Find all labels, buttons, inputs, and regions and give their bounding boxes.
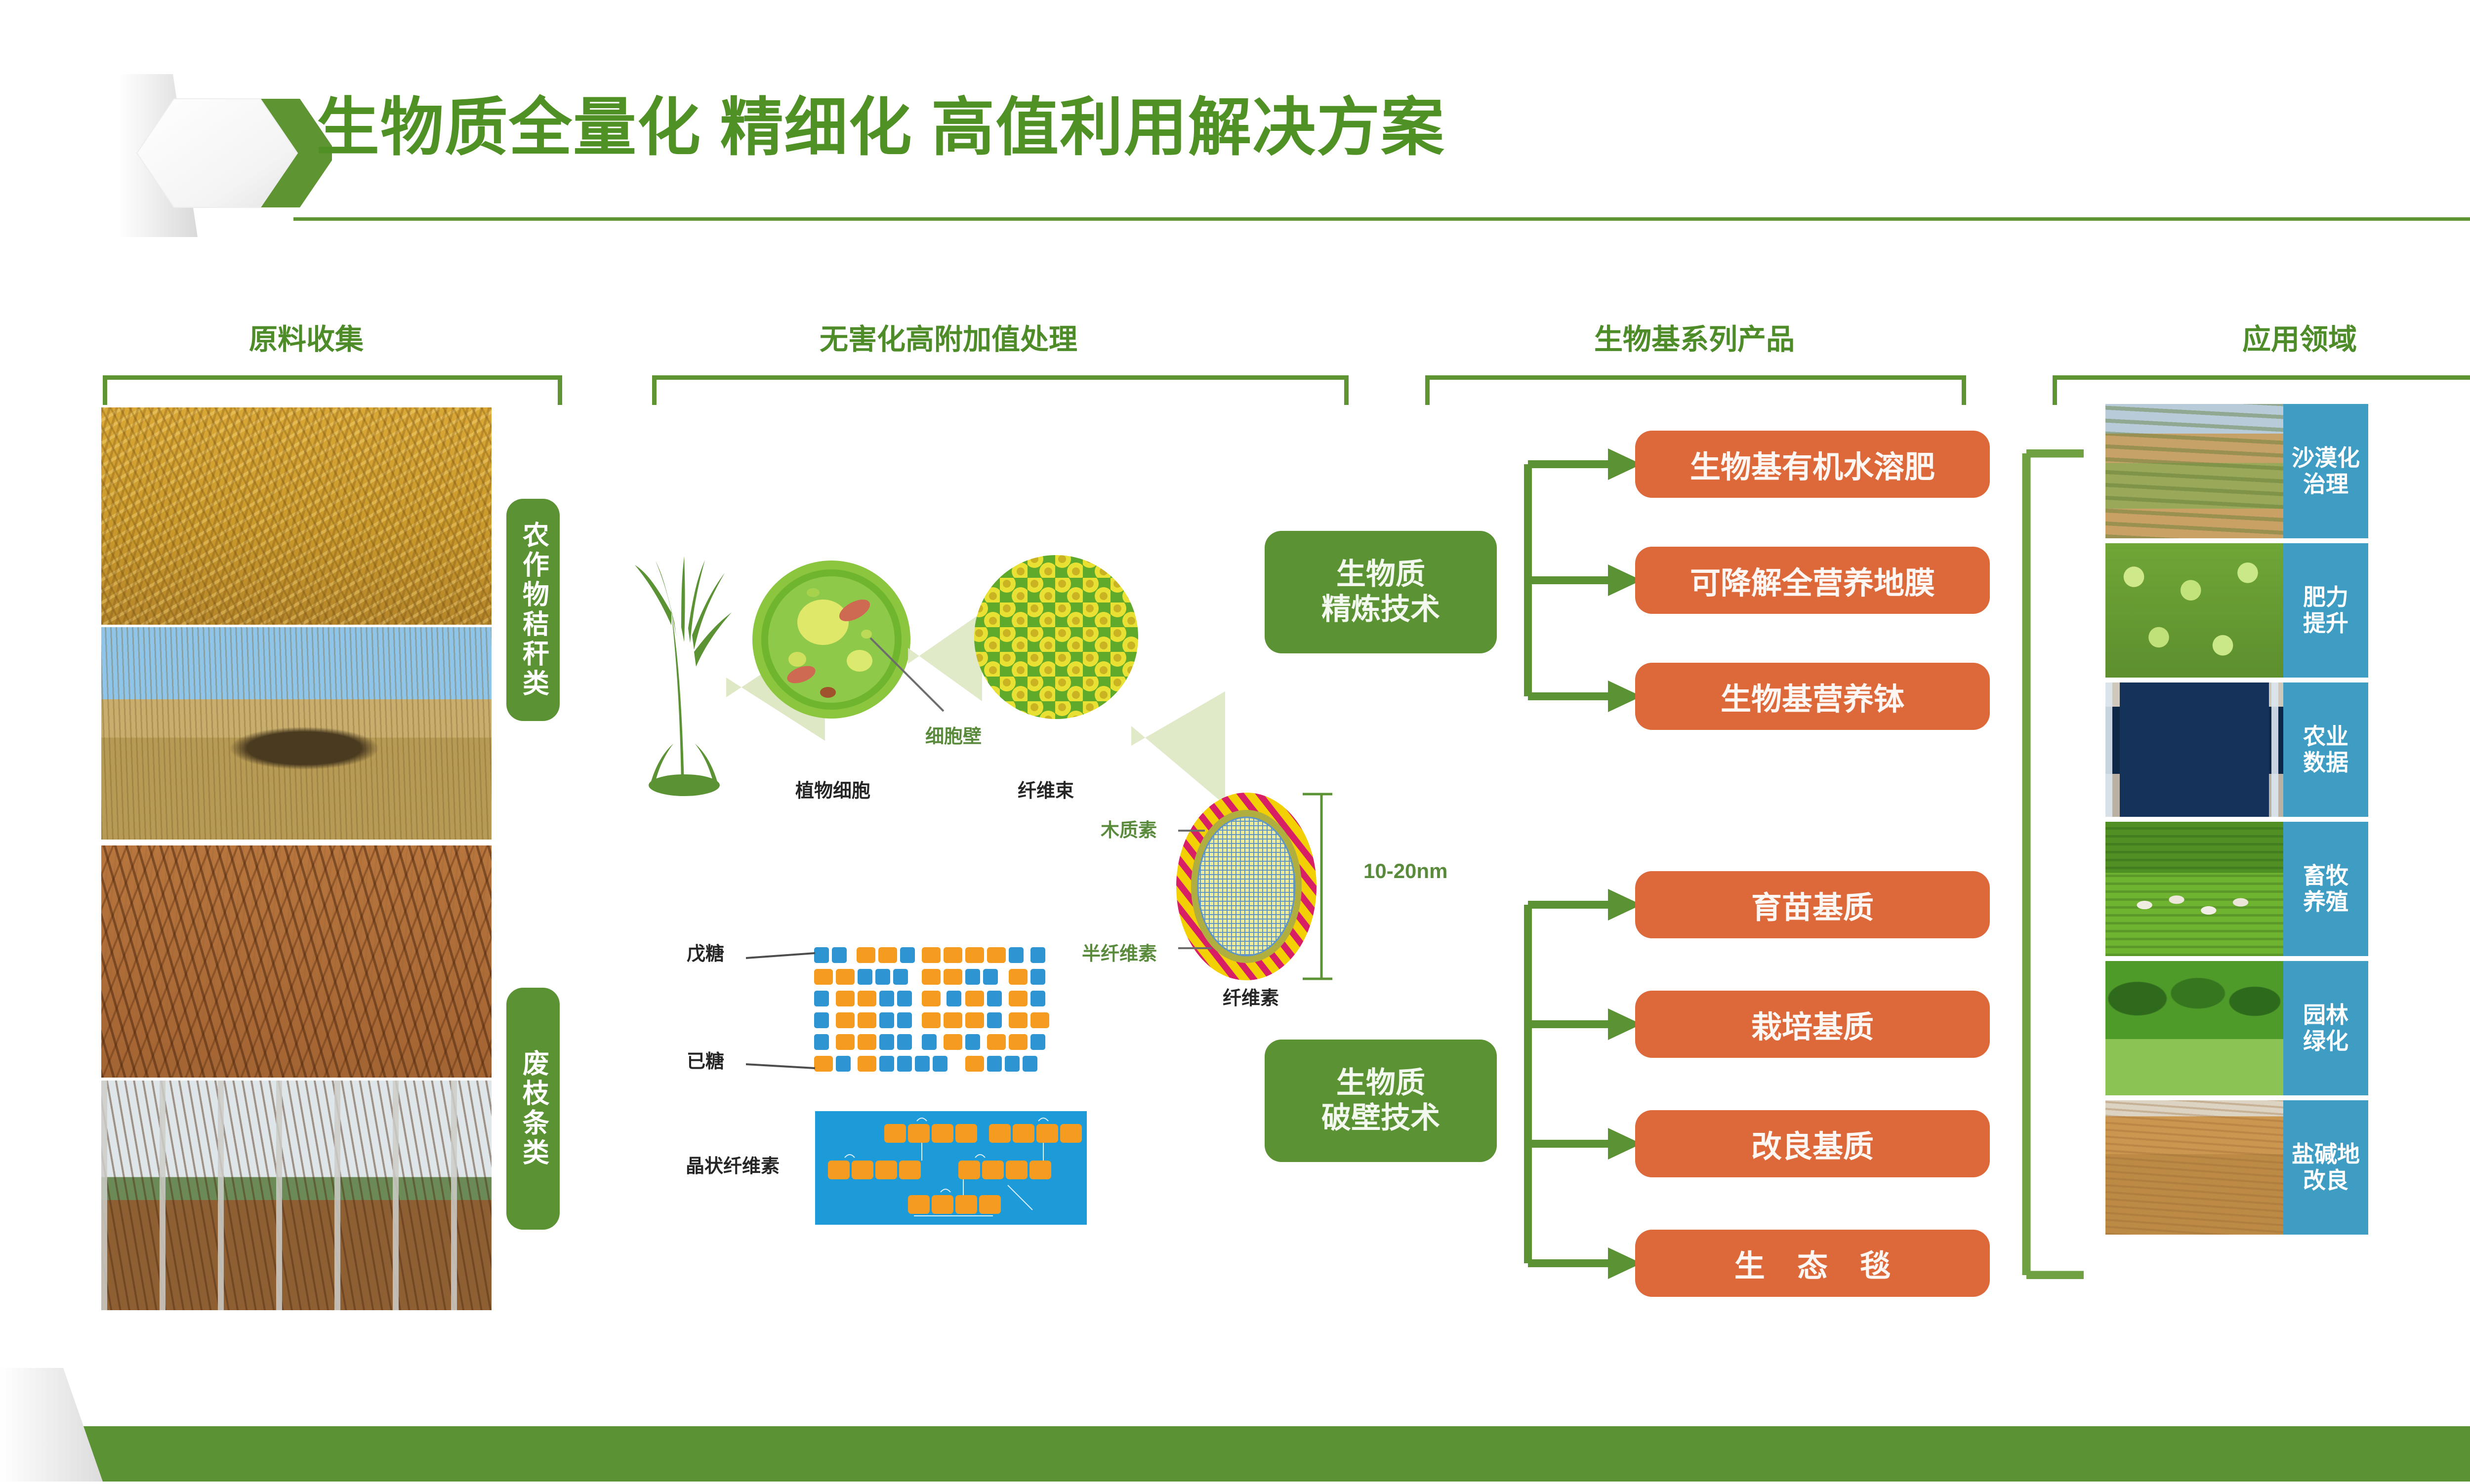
refining-branch-arrows	[1519, 444, 1647, 716]
application-label-line2: 养殖	[2303, 889, 2348, 915]
application-label-line2: 提升	[2303, 610, 2348, 637]
product-ecological-blanket[interactable]: 生 态 毯	[1635, 1230, 1990, 1297]
wall-breaking-branch-arrows	[1519, 884, 1647, 1284]
page-title: 生物质全量化 精细化 高值利用解决方案	[316, 96, 1445, 160]
application-livestock-breeding[interactable]: 畜牧 养殖	[2105, 822, 2370, 956]
product-cultivation-substrate[interactable]: 栽培基质	[1635, 991, 1990, 1058]
product-label: 生 态 毯	[1723, 1241, 1902, 1285]
product-label: 育苗基质	[1751, 882, 1874, 927]
application-label: 沙漠化 治理	[2283, 404, 2368, 538]
bottom-green-bar	[0, 1426, 2470, 1482]
application-label: 肥力 提升	[2283, 543, 2368, 678]
column-header-processing: 无害化高附加值处理	[608, 316, 1289, 358]
application-label-line1: 畜牧	[2303, 863, 2348, 889]
biomass-refining-tech-line2: 精炼技术	[1321, 592, 1440, 627]
cellulose-fibril-cross-section	[1173, 785, 1336, 993]
hemicellulose-label: 半纤维素	[1082, 938, 1157, 965]
application-label: 农业 数据	[2283, 682, 2368, 817]
product-biodegradable-nutrient-mulch-film[interactable]: 可降解全营养地膜	[1635, 547, 1990, 614]
application-label-line1: 肥力	[2303, 584, 2348, 610]
products-to-applications-bracket	[2020, 449, 2090, 1279]
bracket-products	[1425, 375, 1966, 405]
slide-root: 生物质全量化 精细化 高值利用解决方案 原料收集 无害化高附加值处理 生物基系列…	[0, 0, 2470, 1482]
application-label: 园林 绿化	[2283, 961, 2368, 1095]
fiber-bundle-illustration	[972, 553, 1140, 721]
bracket-raw-material	[103, 375, 562, 405]
zoom-wedge-cell-to-bundle	[908, 612, 982, 701]
column-header-applications: 应用领域	[2099, 316, 2470, 358]
sugar-chain-diagram	[810, 943, 1087, 1106]
product-label: 改良基质	[1751, 1122, 1874, 1166]
column-header-raw-material: 原料收集	[168, 316, 445, 358]
biomass-refining-tech-line1: 生物质	[1336, 557, 1425, 592]
waste-branch-category: 废枝条类	[506, 988, 560, 1230]
product-label: 可降解全营养地膜	[1690, 558, 1935, 602]
biomass-refining-tech[interactable]: 生物质 精炼技术	[1265, 531, 1497, 653]
fiber-bundle-label: 纤维束	[1018, 775, 1074, 802]
product-label: 生物基有机水溶肥	[1690, 442, 1935, 486]
data-control-room-photo	[2105, 682, 2283, 817]
application-label-line2: 改良	[2303, 1167, 2348, 1194]
pentose-label: 戊糖	[687, 938, 724, 965]
application-label: 盐碱地 改良	[2283, 1100, 2368, 1235]
waste-branch-category-label: 废枝条类	[519, 1049, 547, 1168]
hexose-label: 已糖	[687, 1046, 724, 1073]
application-label-line1: 农业	[2303, 723, 2348, 750]
pruned-branches-photo	[101, 845, 492, 1078]
bare-soil-photo	[2105, 1100, 2283, 1235]
cell-wall-label: 细胞壁	[925, 721, 982, 748]
application-landscape-greening[interactable]: 园林 绿化	[2105, 961, 2370, 1095]
application-label-line1: 园林	[2303, 1002, 2348, 1028]
application-label-line2: 治理	[2303, 471, 2348, 497]
crystalline-cellulose-panel	[815, 1111, 1087, 1225]
product-improvement-substrate[interactable]: 改良基质	[1635, 1110, 1990, 1177]
bracket-applications	[2053, 375, 2470, 405]
biomass-wall-breaking-tech[interactable]: 生物质 破壁技术	[1265, 1040, 1497, 1162]
bottom-white-wedge	[0, 1368, 119, 1482]
pentose-leader-line	[746, 951, 815, 965]
cabbage-field-photo	[2105, 543, 2283, 678]
hexose-leader-line	[746, 1059, 815, 1074]
plant-cell-label: 植物细胞	[795, 775, 870, 802]
biomass-wall-breaking-tech-line1: 生物质	[1336, 1066, 1425, 1101]
application-agricultural-data[interactable]: 农业 数据	[2105, 682, 2370, 817]
product-seedling-substrate[interactable]: 育苗基质	[1635, 871, 1990, 938]
application-label-line2: 数据	[2303, 750, 2348, 776]
product-label: 生物基营养钵	[1721, 674, 1904, 719]
sheep-grazing-photo	[2105, 822, 2283, 956]
product-organic-water-soluble-fertilizer[interactable]: 生物基有机水溶肥	[1635, 431, 1990, 498]
lignin-label: 木质素	[1101, 815, 1157, 842]
product-biobased-nutrient-pot[interactable]: 生物基营养钵	[1635, 663, 1990, 730]
corn-straw-field-photo	[101, 407, 492, 625]
application-soil-fertility-improvement[interactable]: 肥力 提升	[2105, 543, 2370, 678]
application-label: 畜牧 养殖	[2283, 822, 2368, 956]
application-saline-alkali-land-improvement[interactable]: 盐碱地 改良	[2105, 1100, 2370, 1235]
straw-bale-field-photo	[101, 627, 492, 840]
title-underline	[293, 217, 2470, 221]
bracket-processing	[652, 375, 1349, 405]
crop-straw-category: 农作物秸秆类	[506, 499, 560, 721]
biomass-wall-breaking-tech-line2: 破壁技术	[1321, 1101, 1440, 1136]
application-label-line1: 盐碱地	[2292, 1141, 2360, 1167]
crystalline-cellulose-label: 晶状纤维素	[686, 1151, 780, 1178]
hexagon-chevron-logo	[134, 79, 332, 227]
crop-straw-category-label: 农作物秸秆类	[519, 521, 547, 699]
application-label-line1: 沙漠化	[2292, 445, 2360, 471]
application-desertification-control[interactable]: 沙漠化 治理	[2105, 404, 2370, 538]
orchard-pruning-photo	[101, 1081, 492, 1310]
fibril-scale-label: 10-20nm	[1363, 859, 1447, 883]
desert-restoration-photo	[2105, 404, 2283, 538]
park-trees-photo	[2105, 961, 2283, 1095]
cellulose-label: 纤维素	[1223, 983, 1279, 1010]
column-header-products: 生物基系列产品	[1433, 316, 1956, 358]
application-label-line2: 绿化	[2303, 1028, 2348, 1054]
product-label: 栽培基质	[1751, 1002, 1874, 1046]
